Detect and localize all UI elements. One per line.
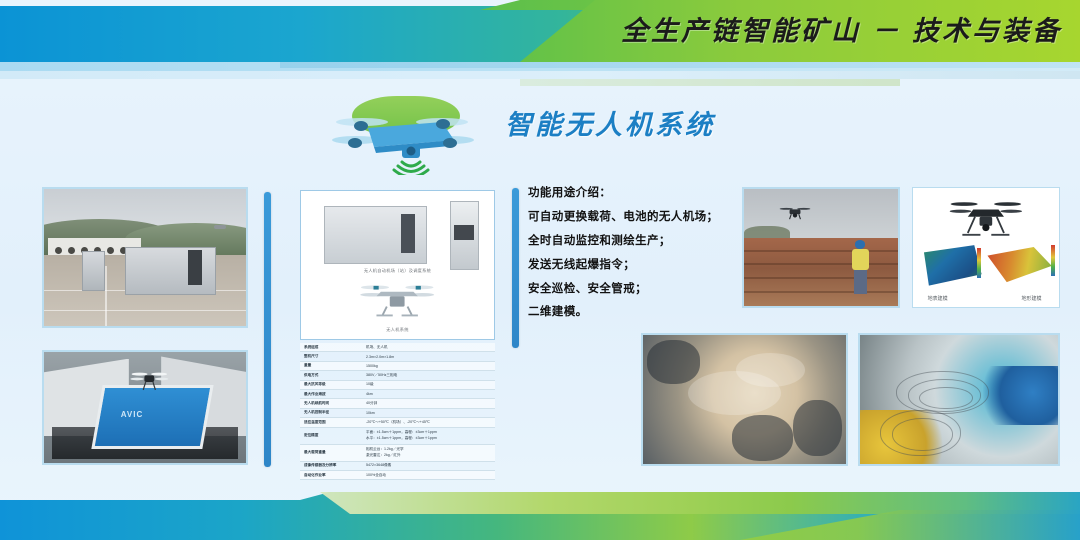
- table-row: 最大载荷重量 相机云台：1.2kg／光学 激光雷达：2kg／红外: [300, 445, 495, 462]
- drone-on-pad-icon: [117, 368, 182, 392]
- hangar-side-unit-diagram: [450, 201, 479, 270]
- mine-dem-photo: [858, 333, 1060, 466]
- table-row: 整机尺寸 2.3m×2.0m×1.8m: [300, 352, 495, 361]
- spec-key: 适应温度范围: [300, 420, 366, 425]
- slide-root: 全生产链智能矿山 － 技术与装备 智能无人机系统: [0, 0, 1080, 540]
- spec-key: 最大抗风等级: [300, 382, 366, 387]
- table-row: 最大作业海拔 4km: [300, 390, 495, 399]
- feature-item: 发送无线起爆指令；: [528, 258, 743, 272]
- feature-item: 二维建模。: [528, 305, 743, 319]
- feature-item: 安全巡检、安全管戒；: [528, 282, 743, 296]
- feature-item: 可自动更换载荷、电池的无人机场；: [528, 210, 743, 224]
- feature-item: 全时自动监控和测绘生产；: [528, 234, 743, 248]
- spec-value: 1500kg: [366, 364, 495, 368]
- spec-key: 供电方式: [300, 373, 366, 378]
- table-row: 系统组成 机场、无人机: [300, 343, 495, 352]
- spec-key: 无人机续航时间: [300, 401, 366, 406]
- wifi-signal-icon: [394, 162, 428, 175]
- spec-value-line: 相机云台：1.2kg／光学: [366, 447, 495, 452]
- spec-key: 整机尺寸: [300, 354, 366, 359]
- drone-hangar-outdoor-photo: [42, 187, 248, 328]
- divider-bar-left: [264, 192, 271, 467]
- spec-key: 系统组成: [300, 345, 366, 350]
- spec-value: 380V／50Hz三相电: [366, 373, 495, 378]
- spec-key: 最大作业海拔: [300, 392, 366, 397]
- table-row: 自动化作业率 100%全自动: [300, 471, 495, 480]
- divider-bar-center: [512, 188, 519, 348]
- drone-3d-model-photo: 地表建模 地形建模: [912, 187, 1060, 308]
- spec-key: 无人机控制半径: [300, 410, 366, 415]
- header-stripe-2: [0, 71, 1080, 79]
- drone-icon: [330, 100, 480, 175]
- table-row: 最大抗风等级 10级: [300, 381, 495, 390]
- spec-value: 5472×3648像素: [366, 463, 495, 468]
- panel-caption-bottom: 无人机系统: [301, 327, 494, 333]
- spec-key: 重量: [300, 363, 366, 368]
- spec-key: 成像传感器及分辨率: [300, 463, 366, 468]
- panel-caption-top: 无人机自动机场（站）及调度系统: [301, 268, 494, 274]
- header-stripe-4: [520, 79, 900, 86]
- spec-value: 10km: [366, 411, 495, 415]
- section-title: 智能无人机系统: [505, 103, 715, 142]
- header-stripe-3: [280, 62, 1080, 68]
- table-row: 定位精度 平面：±1.5cm＋1ppm，高程：±3cm＋1ppm 水平：±1.5…: [300, 428, 495, 445]
- spec-value: 40分钟: [366, 401, 495, 406]
- spec-key: 自动化作业率: [300, 473, 366, 478]
- spec-value-line: 激光雷达：2kg／红外: [366, 453, 495, 458]
- features-heading: 功能用途介绍：: [528, 186, 743, 200]
- spec-value: 2.3m×2.0m×1.8m: [366, 355, 495, 359]
- spec-value: 相机云台：1.2kg／光学 激光雷达：2kg／红外: [366, 447, 495, 458]
- spec-value-line: 平面：±1.5cm＋1ppm，高程：±3cm＋1ppm: [366, 430, 495, 435]
- drone-landing-pad-photo: AVIC: [42, 350, 248, 465]
- colorbar-left: [977, 248, 981, 279]
- page-title: 全生产链智能矿山 － 技术与装备: [621, 8, 1062, 54]
- table-row: 适应温度范围 -20℃～+50℃（机场）、-20℃～+45℃: [300, 418, 495, 427]
- spec-key: 定位精度: [300, 433, 366, 438]
- table-row: 无人机续航时间 40分钟: [300, 399, 495, 408]
- model-caption-left: 地表建模: [928, 295, 948, 302]
- hangar-container-diagram: [324, 206, 426, 264]
- table-row: 重量 1500kg: [300, 362, 495, 371]
- field-operator: [850, 240, 870, 294]
- spec-value: 10级: [366, 382, 495, 387]
- colorbar-right: [1051, 245, 1055, 276]
- table-row: 成像传感器及分辨率 5472×3648像素: [300, 462, 495, 471]
- table-row: 供电方式 380V／50Hz三相电: [300, 371, 495, 380]
- flying-drone-icon: [775, 205, 815, 221]
- footer-banner: [0, 484, 1080, 540]
- terrain-model-thumb: [987, 243, 1051, 286]
- spec-table: 系统组成 机场、无人机 整机尺寸 2.3m×2.0m×1.8m 重量 1500k…: [300, 343, 495, 467]
- drone-field-operation-photo: [742, 187, 900, 308]
- model-caption-right: 地形建模: [1021, 295, 1041, 302]
- spec-value: 平面：±1.5cm＋1ppm，高程：±3cm＋1ppm 水平：±1.5cm＋1p…: [366, 430, 495, 441]
- mine-orthophoto: [641, 333, 848, 466]
- survey-drone-icon: [945, 195, 1027, 240]
- header-banner: 全生产链智能矿山 － 技术与装备: [0, 0, 1080, 62]
- feature-text-block: 功能用途介绍： 可自动更换载荷、电池的无人机场； 全时自动监控和测绘生产； 发送…: [528, 186, 743, 329]
- spec-value: -20℃～+50℃（机场）、-20℃～+45℃: [366, 420, 495, 425]
- spec-value: 100%全自动: [366, 473, 495, 478]
- table-row: 无人机控制半径 10km: [300, 409, 495, 418]
- spec-value: 4km: [366, 392, 495, 396]
- spec-key: 最大载荷重量: [300, 450, 366, 455]
- spec-value: 机场、无人机: [366, 345, 495, 350]
- landing-pad-brand: AVIC: [121, 410, 144, 419]
- drone-diagram-icon: [347, 277, 447, 321]
- equipment-diagram-panel: 无人机自动机场（站）及调度系统 无人机系统: [300, 190, 495, 340]
- spec-value-line: 水平：±1.5cm＋1ppm，高程：±3cm＋1ppm: [366, 436, 495, 441]
- surface-model-thumb: [920, 245, 981, 285]
